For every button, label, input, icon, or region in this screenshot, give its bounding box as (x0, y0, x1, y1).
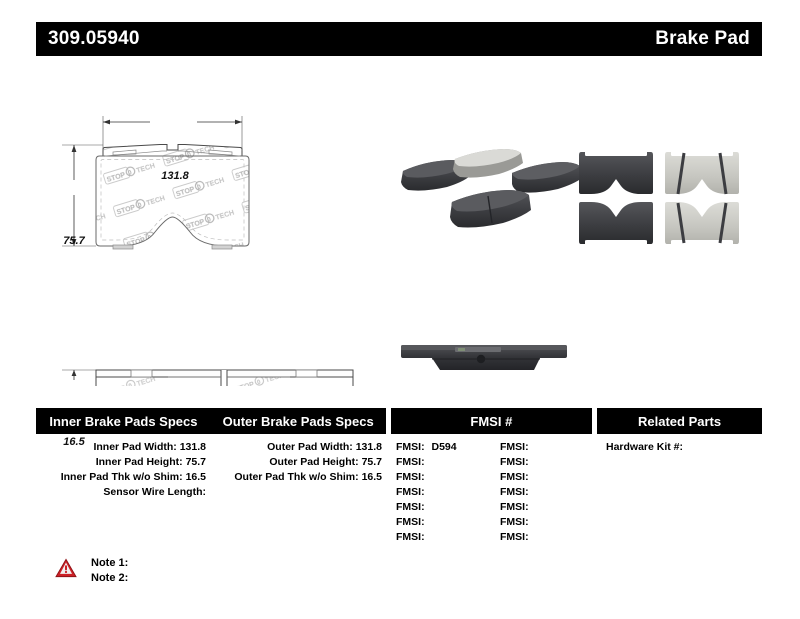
fmsi-label: FMSI: (500, 471, 529, 483)
side-view-drawing (56, 370, 360, 386)
spec-value: 16.5 (362, 471, 382, 483)
fmsi-row: FMSI: (492, 485, 596, 500)
fmsi-value (425, 456, 429, 468)
table-body: Inner Pad Width: 131.8 Inner Pad Height:… (36, 440, 762, 545)
notes-section: Note 1: Note 2: (55, 556, 128, 586)
fmsi-label: FMSI: (396, 486, 425, 498)
specifications-table: Inner Brake Pads Specs Outer Brake Pads … (36, 408, 762, 545)
fmsi-value (529, 516, 533, 528)
product-type: Brake Pad (655, 28, 750, 50)
fmsi-row: FMSI: (492, 530, 596, 545)
drawing-area: STOP 0 TECH STOP 0 TECH (0, 56, 800, 386)
spec-label: Inner Pad Width: (93, 441, 176, 453)
warning-triangle-icon (55, 558, 77, 578)
fmsi-row: FMSI: (492, 440, 596, 455)
spec-row: Outer Pad Thk w/o Shim: 16.5 (212, 470, 388, 485)
spec-label: Inner Pad Height: (96, 456, 183, 468)
fmsi-row: FMSI: (492, 500, 596, 515)
pad-edge-profile-photo (401, 345, 567, 370)
spec-row: Outer Pad Height: 75.7 (212, 455, 388, 470)
spec-label: Outer Pad Width: (267, 441, 353, 453)
fmsi-row: FMSI: D594 (388, 440, 492, 455)
fmsi-row: FMSI: (388, 470, 492, 485)
spec-row: Inner Pad Width: 131.8 (36, 440, 212, 455)
spec-row: Outer Pad Width: 131.8 (212, 440, 388, 455)
related-parts-column: Hardware Kit #: (596, 440, 762, 545)
technical-drawings-svg: STOP 0 TECH STOP 0 TECH (0, 56, 800, 386)
spec-row: Sensor Wire Length: (36, 485, 212, 500)
width-dimension (103, 114, 242, 151)
spec-value: 75.7 (186, 456, 206, 468)
header-inner-brake-pads-specs: Inner Brake Pads Specs (36, 408, 211, 434)
spec-value: 131.8 (356, 441, 382, 453)
spec-row: Inner Pad Height: 75.7 (36, 455, 212, 470)
fmsi-label: FMSI: (500, 501, 529, 513)
fmsi-label: FMSI: (500, 486, 529, 498)
note-line-1: Note 1: (91, 556, 128, 571)
spec-label: Sensor Wire Length: (103, 486, 206, 498)
fmsi-value (529, 456, 533, 468)
fmsi-label: FMSI: (396, 501, 425, 513)
fmsi-column: FMSI: D594 FMSI: FMSI: FMSI: FMSI: (388, 440, 596, 545)
fmsi-row: FMSI: (492, 515, 596, 530)
fmsi-row: FMSI: (388, 515, 492, 530)
header-related-parts: Related Parts (597, 408, 762, 434)
related-part-row: Hardware Kit #: (596, 440, 762, 455)
title-bar: 309.05940 Brake Pad (36, 22, 762, 56)
fmsi-row: FMSI: (388, 500, 492, 515)
note-lines: Note 1: Note 2: (91, 556, 128, 586)
spec-row: Inner Pad Thk w/o Shim: 16.5 (36, 470, 212, 485)
spec-label: Inner Pad Thk w/o Shim: (61, 471, 183, 483)
fmsi-row: FMSI: (492, 455, 596, 470)
fmsi-value (425, 501, 429, 513)
header-outer-brake-pads-specs: Outer Brake Pads Specs (211, 408, 386, 434)
fmsi-label: FMSI: (500, 441, 529, 453)
fmsi-row: FMSI: (388, 530, 492, 545)
fmsi-subcolumn-left: FMSI: D594 FMSI: FMSI: FMSI: FMSI: (388, 440, 492, 545)
four-pads-angled-photo (401, 149, 582, 228)
height-dimension-label: 75.7 (57, 235, 91, 247)
spec-label: Outer Pad Height: (269, 456, 358, 468)
thickness-dimension (56, 370, 96, 386)
part-number: 309.05940 (48, 28, 140, 50)
fmsi-row: FMSI: (492, 470, 596, 485)
pad-set-front-back-photo (579, 152, 739, 244)
fmsi-row: FMSI: (388, 485, 492, 500)
width-dimension-label: 131.8 (152, 170, 198, 182)
fmsi-value (529, 531, 533, 543)
fmsi-value (425, 486, 429, 498)
spec-value: 75.7 (362, 456, 382, 468)
header-fmsi: FMSI # (391, 408, 593, 434)
fmsi-label: FMSI: (500, 516, 529, 528)
table-header-row: Inner Brake Pads Specs Outer Brake Pads … (36, 408, 762, 434)
fmsi-label: FMSI: (396, 441, 425, 453)
spec-label: Outer Pad Thk w/o Shim: (234, 471, 358, 483)
fmsi-label: FMSI: (500, 531, 529, 543)
note-line-2: Note 2: (91, 571, 128, 586)
fmsi-label: FMSI: (396, 531, 425, 543)
fmsi-value (529, 486, 533, 498)
fmsi-value: D594 (428, 441, 457, 453)
fmsi-value (529, 441, 533, 453)
fmsi-value (529, 471, 533, 483)
inner-specs-column: Inner Pad Width: 131.8 Inner Pad Height:… (36, 440, 212, 545)
fmsi-label: FMSI: (500, 456, 529, 468)
spec-value: 131.8 (180, 441, 206, 453)
fmsi-label: FMSI: (396, 516, 425, 528)
fmsi-subcolumn-right: FMSI: FMSI: FMSI: FMSI: FMSI: (492, 440, 596, 545)
fmsi-value (529, 501, 533, 513)
spec-value: 16.5 (186, 471, 206, 483)
fmsi-value (425, 516, 429, 528)
fmsi-label: FMSI: (396, 456, 425, 468)
related-part-label: Hardware Kit #: (606, 441, 683, 453)
fmsi-row: FMSI: (388, 455, 492, 470)
fmsi-value (425, 531, 429, 543)
fmsi-label: FMSI: (396, 471, 425, 483)
outer-specs-column: Outer Pad Width: 131.8 Outer Pad Height:… (212, 440, 388, 545)
fmsi-value (425, 471, 429, 483)
